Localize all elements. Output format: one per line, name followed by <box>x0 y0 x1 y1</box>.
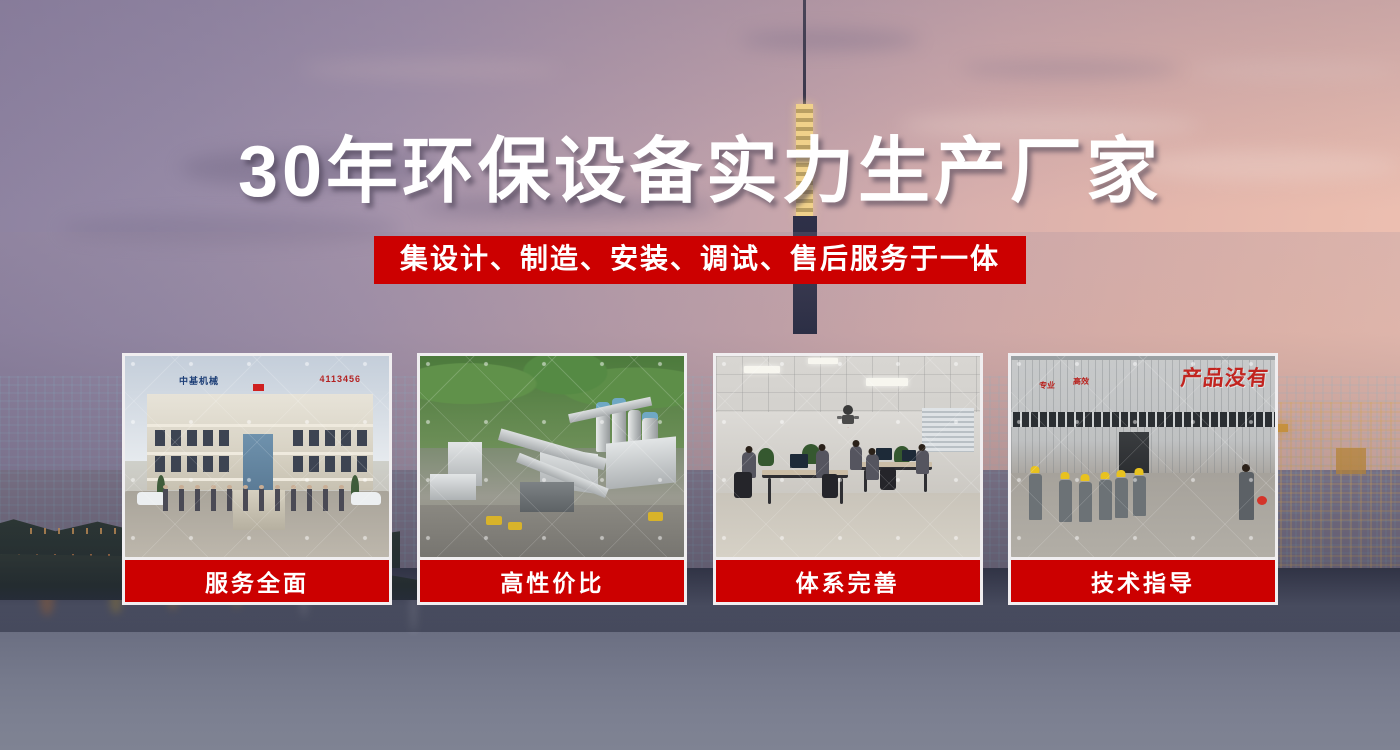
promo-banner: 30年环保设备实力生产厂家 集设计、制造、安装、调试、售后服务于一体 <box>0 0 1400 750</box>
feature-card[interactable]: 中基机械 4113456 服务全面 <box>122 353 392 605</box>
feature-card[interactable]: 高性价比 <box>417 353 687 605</box>
wall-logo-icon: · <box>831 400 865 430</box>
svg-text:·: · <box>847 425 848 430</box>
factory-wall-slogan-small-1: 专业 <box>1038 380 1055 391</box>
office-interior-photo: · <box>716 356 980 557</box>
card-caption: 服务全面 <box>125 557 389 602</box>
subtitle-banner: 集设计、制造、安装、调试、售后服务于一体 <box>374 236 1026 284</box>
feature-card[interactable]: · <box>713 353 983 605</box>
building-sign-text: 中基机械 <box>179 374 219 387</box>
subtitle-container: 集设计、制造、安装、调试、售后服务于一体 <box>0 236 1400 284</box>
factory-wall-slogan-small-2: 高效 <box>1072 376 1089 387</box>
industrial-plant-photo <box>420 356 684 557</box>
factory-workers-photo: 产品没有 专业 高效 <box>1011 356 1275 557</box>
factory-wall-slogan: 产品没有 <box>1179 362 1270 392</box>
page-title: 30年环保设备实力生产厂家 <box>0 136 1400 208</box>
card-caption: 技术指导 <box>1011 557 1275 602</box>
feature-card[interactable]: 产品没有 专业 高效 技术指导 <box>1008 353 1278 605</box>
card-caption: 高性价比 <box>420 557 684 602</box>
card-caption: 体系完善 <box>716 557 980 602</box>
feature-card-list: 中基机械 4113456 服务全面 <box>122 353 1278 605</box>
building-phone-text: 4113456 <box>319 374 361 384</box>
company-building-photo: 中基机械 4113456 <box>125 356 389 557</box>
